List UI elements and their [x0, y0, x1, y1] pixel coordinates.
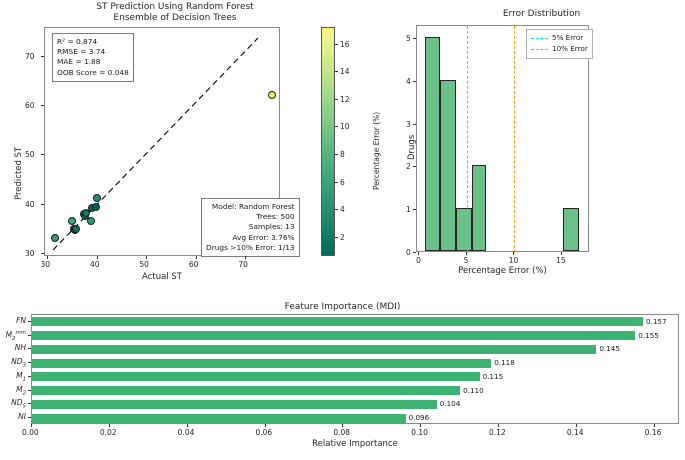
scatter-x-tickmark	[196, 256, 197, 259]
scatter-x-tickmark	[146, 256, 147, 259]
scatter-y-ticklabel: 60	[25, 101, 35, 110]
histogram-title: Error Distribution	[398, 9, 685, 20]
colorbar-gradient	[321, 27, 335, 256]
histogram-x-axis-label: Percentage Error (%)	[416, 266, 589, 276]
legend-item: 10% Error	[531, 44, 588, 55]
feature-x-ticklabel: 0.12	[489, 428, 506, 437]
colorbar-tickmark	[335, 71, 338, 72]
histogram-y-ticklabel: 5	[406, 34, 411, 43]
feature-x-ticklabel: 0.16	[645, 428, 662, 437]
feature-x-tickmark	[342, 424, 343, 427]
feature-x-tickmark	[498, 424, 499, 427]
colorbar-tickmark	[335, 237, 338, 238]
histogram-bar	[563, 208, 579, 251]
scatter-x-ticklabel: 40	[90, 260, 100, 269]
feature-category-label: NH	[15, 343, 26, 352]
feature-value-label: 0.145	[599, 344, 620, 353]
scatter-y-tickmark	[41, 56, 44, 57]
feature-x-tickmark	[109, 424, 110, 427]
feature-y-tickmark	[28, 403, 31, 404]
histogram-y-tickmark	[413, 252, 416, 253]
colorbar-label: Percentage Error (%)	[372, 112, 381, 190]
feature-x-tickmark	[31, 424, 32, 427]
feature-x-tickmark	[187, 424, 188, 427]
histogram-x-ticklabel: 0	[416, 256, 421, 265]
feature-y-tickmark	[28, 417, 31, 418]
scatter-panel: ST Prediction Using Random Forest Ensemb…	[0, 0, 400, 292]
colorbar-tickmark	[335, 126, 338, 127]
scatter-point	[72, 225, 80, 233]
histogram-x-tickmark	[466, 252, 467, 255]
colorbar-ticklabel: 16	[340, 40, 350, 49]
colorbar-tickmark	[335, 154, 338, 155]
histogram-legend: 5% Error10% Error	[526, 29, 593, 59]
scatter-x-ticklabel: 50	[139, 260, 149, 269]
feature-x-ticklabel: 0.02	[100, 428, 117, 437]
feature-bar	[32, 414, 406, 423]
scatter-y-tickmark	[41, 253, 44, 254]
colorbar-ticklabel: 6	[340, 178, 345, 187]
histogram-y-ticklabel: 4	[406, 77, 411, 86]
colorbar-tickmark	[335, 182, 338, 183]
histogram-x-tickmark	[418, 252, 419, 255]
feature-y-tickmark	[28, 321, 31, 322]
metrics-annotation-box: R² = 0.874 RMSE = 3.74 MAE = 1.88 OOB Sc…	[52, 33, 134, 82]
scatter-y-ticklabel: 70	[25, 52, 35, 61]
legend-item: 5% Error	[531, 33, 588, 44]
histogram-y-tickmark	[413, 209, 416, 210]
feature-category-label: M1	[16, 371, 26, 383]
histogram-y-tickmark	[413, 38, 416, 39]
feature-x-tickmark	[576, 424, 577, 427]
scatter-y-tickmark	[41, 154, 44, 155]
histogram-y-tickmark	[413, 81, 416, 82]
colorbar-tickmark	[335, 44, 338, 45]
feature-category-label: ND3	[11, 357, 26, 369]
feature-x-ticklabel: 0.14	[567, 428, 584, 437]
histogram-y-tickmark	[413, 124, 416, 125]
colorbar-ticklabel: 10	[340, 122, 350, 131]
scatter-x-ticklabel: 30	[40, 260, 50, 269]
feature-value-label: 0.155	[638, 331, 659, 340]
histogram-y-axis-label: Drugs	[407, 135, 417, 160]
histogram-x-tickmark	[561, 252, 562, 255]
scatter-y-axis-label: Predicted ST	[14, 147, 24, 200]
threshold-line-5-error	[467, 26, 468, 253]
scatter-y-tickmark	[41, 204, 44, 205]
feature-y-tickmark	[28, 362, 31, 363]
feature-bar	[32, 359, 491, 368]
scatter-title: ST Prediction Using Random Forest Ensemb…	[20, 2, 330, 24]
scatter-y-ticklabel: 50	[25, 150, 35, 159]
scatter-point	[68, 217, 76, 225]
feature-importance-title: Feature Importance (MDI)	[0, 302, 685, 313]
histogram-bar	[456, 208, 472, 251]
feature-value-label: 0.157	[646, 317, 667, 326]
feature-importance-panel: Feature Importance (MDI) FNM2mmNHND3M1M2…	[0, 296, 685, 460]
colorbar-ticklabel: 4	[340, 205, 345, 214]
histogram-x-ticklabel: 5	[464, 256, 469, 265]
histogram-y-ticklabel: 2	[406, 162, 411, 171]
feature-y-tickmark	[28, 376, 31, 377]
histogram-y-ticklabel: 1	[406, 205, 411, 214]
feature-x-ticklabel: 0.06	[256, 428, 273, 437]
feature-bar	[32, 386, 460, 395]
scatter-x-tickmark	[245, 256, 246, 259]
scatter-x-ticklabel: 70	[238, 260, 248, 269]
feature-value-label: 0.118	[494, 358, 515, 367]
feature-x-ticklabel: 0.00	[22, 428, 39, 437]
legend-dash-icon	[531, 49, 548, 50]
feature-bar	[32, 345, 596, 354]
legend-label: 5% Error	[552, 33, 583, 44]
feature-category-label: ND5	[11, 398, 26, 410]
histogram-panel: Error Distribution 5% Error10% Error 051…	[398, 0, 685, 292]
scatter-y-tickmark	[41, 105, 44, 106]
colorbar-ticklabel: 14	[340, 67, 350, 76]
histogram-y-tickmark	[413, 166, 416, 167]
feature-x-ticklabel: 0.08	[333, 428, 350, 437]
feature-category-label: FN	[16, 316, 26, 325]
feature-importance-plot-area	[31, 314, 679, 424]
feature-x-tickmark	[420, 424, 421, 427]
colorbar-tickmark	[335, 209, 338, 210]
scatter-x-tickmark	[47, 256, 48, 259]
feature-category-label: M2	[16, 385, 26, 397]
threshold-line-10-error	[514, 26, 515, 253]
model-annotation-box: Model: Random Forest Trees: 500 Samples:…	[201, 198, 300, 257]
scatter-x-axis-label: Actual ST	[44, 272, 280, 282]
feature-value-label: 0.115	[483, 372, 504, 381]
colorbar-ticklabel: 8	[340, 150, 345, 159]
legend-label: 10% Error	[552, 44, 588, 55]
histogram-x-ticklabel: 10	[509, 256, 519, 265]
legend-dash-icon	[531, 38, 548, 39]
feature-bar	[32, 372, 480, 381]
colorbar-ticklabel: 12	[340, 95, 350, 104]
scatter-x-tickmark	[97, 256, 98, 259]
feature-y-tickmark	[28, 390, 31, 391]
feature-x-tickmark	[654, 424, 655, 427]
feature-value-label: 0.104	[440, 399, 461, 408]
feature-bar	[32, 331, 635, 340]
colorbar: 246810121416	[321, 27, 335, 256]
scatter-y-ticklabel: 30	[25, 249, 35, 258]
histogram-x-ticklabel: 15	[556, 256, 566, 265]
feature-bar	[32, 317, 643, 326]
histogram-bar	[472, 165, 486, 251]
feature-y-tickmark	[28, 348, 31, 349]
scatter-y-ticklabel: 40	[25, 200, 35, 209]
feature-bar	[32, 400, 437, 409]
feature-value-label: 0.110	[463, 386, 484, 395]
histogram-bar	[440, 80, 456, 251]
scatter-point	[268, 91, 276, 99]
feature-category-label: M2mm	[6, 330, 26, 342]
colorbar-tickmark	[335, 99, 338, 100]
feature-value-label: 0.096	[409, 413, 430, 422]
scatter-point	[87, 217, 95, 225]
histogram-plot-area	[416, 25, 589, 252]
feature-x-ticklabel: 0.10	[411, 428, 428, 437]
histogram-x-tickmark	[513, 252, 514, 255]
feature-category-label: NI	[18, 412, 26, 421]
feature-y-tickmark	[28, 335, 31, 336]
feature-x-ticklabel: 0.04	[178, 428, 195, 437]
scatter-x-ticklabel: 60	[189, 260, 199, 269]
feature-x-tickmark	[265, 424, 266, 427]
feature-importance-x-axis-label: Relative Importance	[31, 439, 679, 449]
histogram-bar	[425, 37, 441, 251]
histogram-y-ticklabel: 0	[406, 248, 411, 257]
colorbar-ticklabel: 2	[340, 233, 345, 242]
histogram-y-ticklabel: 3	[406, 120, 411, 129]
